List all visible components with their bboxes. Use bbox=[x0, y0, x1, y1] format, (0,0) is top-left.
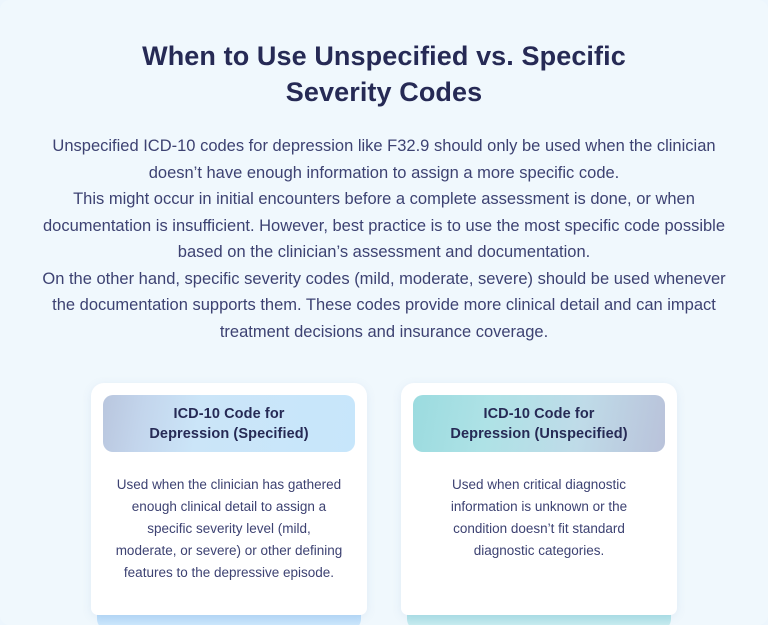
card-specified-header: ICD-10 Code for Depression (Specified) bbox=[103, 395, 355, 452]
card-specified-panel: ICD-10 Code for Depression (Specified) U… bbox=[91, 383, 367, 615]
comparison-card-row: ICD-10 Code for Depression (Specified) U… bbox=[91, 383, 677, 615]
card-unspecified-header-line-1: ICD-10 Code for bbox=[483, 406, 594, 422]
card-unspecified-header-line-2: Depression (Unspecified) bbox=[450, 426, 627, 442]
card-unspecified-panel: ICD-10 Code for Depression (Unspecified)… bbox=[401, 383, 677, 615]
intro-text-block: Unspecified ICD-10 codes for depression … bbox=[34, 133, 734, 345]
intro-paragraph-1: Unspecified ICD-10 codes for depression … bbox=[34, 133, 734, 186]
card-specified-header-line-2: Depression (Specified) bbox=[149, 426, 308, 442]
page-title: When to Use Unspecified vs. Specific Sev… bbox=[104, 38, 664, 110]
intro-paragraph-3: On the other hand, specific severity cod… bbox=[34, 266, 734, 346]
card-specified-header-line-1: ICD-10 Code for bbox=[173, 406, 284, 422]
infographic-slide: When to Use Unspecified vs. Specific Sev… bbox=[0, 0, 768, 625]
page-title-line-2: Severity Codes bbox=[104, 74, 664, 110]
card-specified-body: Used when the clinician has gathered eno… bbox=[103, 452, 355, 608]
card-unspecified-body: Used when critical diagnostic informatio… bbox=[413, 452, 665, 586]
card-unspecified: ICD-10 Code for Depression (Unspecified)… bbox=[401, 383, 677, 615]
card-unspecified-header: ICD-10 Code for Depression (Unspecified) bbox=[413, 395, 665, 452]
card-specified: ICD-10 Code for Depression (Specified) U… bbox=[91, 383, 367, 615]
page-title-line-1: When to Use Unspecified vs. Specific bbox=[104, 38, 664, 74]
intro-paragraph-2: This might occur in initial encounters b… bbox=[34, 186, 734, 266]
